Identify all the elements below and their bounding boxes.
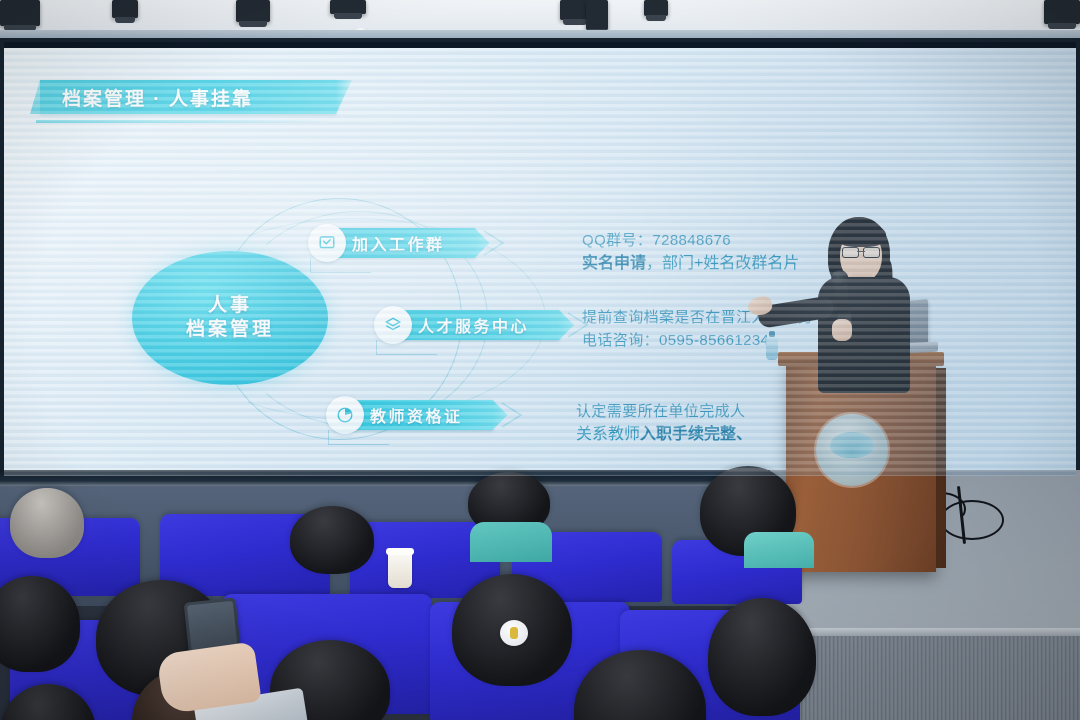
audience-head <box>708 598 816 716</box>
slide-title-banner: 档案管理 · 人事挂靠 <box>40 80 336 114</box>
hub-label-line2: 档案管理 <box>186 318 274 342</box>
stage-light-fixture <box>112 0 138 18</box>
floor-cable <box>940 500 1004 540</box>
branch-pill: 加入工作群 <box>318 228 475 258</box>
page-title: 档案管理 · 人事挂靠 <box>62 84 253 111</box>
branch-pill: 教师资格证 <box>336 400 493 430</box>
audience-area <box>0 470 780 720</box>
detail-line: 电话咨询：0595-85661234 <box>582 329 813 352</box>
detail-line: 实名申请，部门+姓名改群名片 <box>582 252 799 277</box>
speaker-mic-hand <box>832 319 852 341</box>
audience-head <box>10 488 84 558</box>
detail-line-rest: 关系教师 <box>576 426 640 443</box>
stage-light-fixture <box>1044 0 1080 24</box>
stage-light-fixture <box>644 0 668 16</box>
university-seal-icon <box>816 414 888 486</box>
detail-text-group-1: QQ群号：728848676 实名申请，部门+姓名改群名片 <box>582 229 799 277</box>
title-underline <box>36 120 330 123</box>
detail-line-bold: 实名申请 <box>582 255 646 272</box>
stage-light-fixture <box>236 0 270 22</box>
detail-line: 关系教师入职手续完整、 <box>576 423 752 448</box>
detail-line: 认定需要所在单位完成人 <box>576 400 752 423</box>
presentation-scene: 档案管理 · 人事挂靠 人事 档案管理 <box>0 0 1080 720</box>
ceiling-panel <box>660 0 1080 30</box>
hair-scrunchie <box>500 620 528 646</box>
water-bottle <box>766 336 778 360</box>
branch-label: 加入工作群 <box>352 231 445 255</box>
detail-line-bold: 入职手续完整、 <box>640 426 752 443</box>
branch-pill: 人才服务中心 <box>384 310 559 340</box>
stage-light-fixture <box>586 0 608 30</box>
detail-text-group-3: 认定需要所在单位完成人 关系教师入职手续完整、 <box>576 400 752 448</box>
pie-chart-icon <box>326 396 364 434</box>
hub-label-line1: 人事 <box>208 294 252 318</box>
branch-label: 教师资格证 <box>370 403 463 427</box>
layers-stack-icon <box>374 306 412 344</box>
chevron-right-icon <box>499 401 527 429</box>
diagram-branch-join-work-group: 加入工作群 <box>318 228 475 258</box>
chat-message-icon <box>308 224 346 262</box>
stage-light-fixture <box>0 0 40 26</box>
chevron-right-icon <box>565 311 593 339</box>
chevron-right-icon <box>481 229 509 257</box>
diagram-branch-talent-service-center: 人才服务中心 <box>384 310 559 340</box>
audience-head <box>290 506 374 574</box>
branch-label: 人才服务中心 <box>418 313 529 337</box>
speaker-fringe <box>836 223 886 247</box>
slide-title-group: 档案管理 · 人事挂靠 <box>40 80 336 114</box>
diagram-hub-circle: 人事 档案管理 <box>132 251 328 385</box>
detail-line-rest: ，部门+姓名改群名片 <box>646 255 799 272</box>
glasses-icon <box>842 247 880 256</box>
stage-light-fixture <box>330 0 366 14</box>
detail-line: QQ群号：728848676 <box>582 229 799 252</box>
audience-person-shirt <box>470 522 552 562</box>
audience-person-shirt <box>744 532 814 568</box>
floor-carpet <box>770 636 1080 720</box>
diagram-branch-teacher-certificate: 教师资格证 <box>336 400 493 430</box>
paper-cup <box>388 552 412 588</box>
